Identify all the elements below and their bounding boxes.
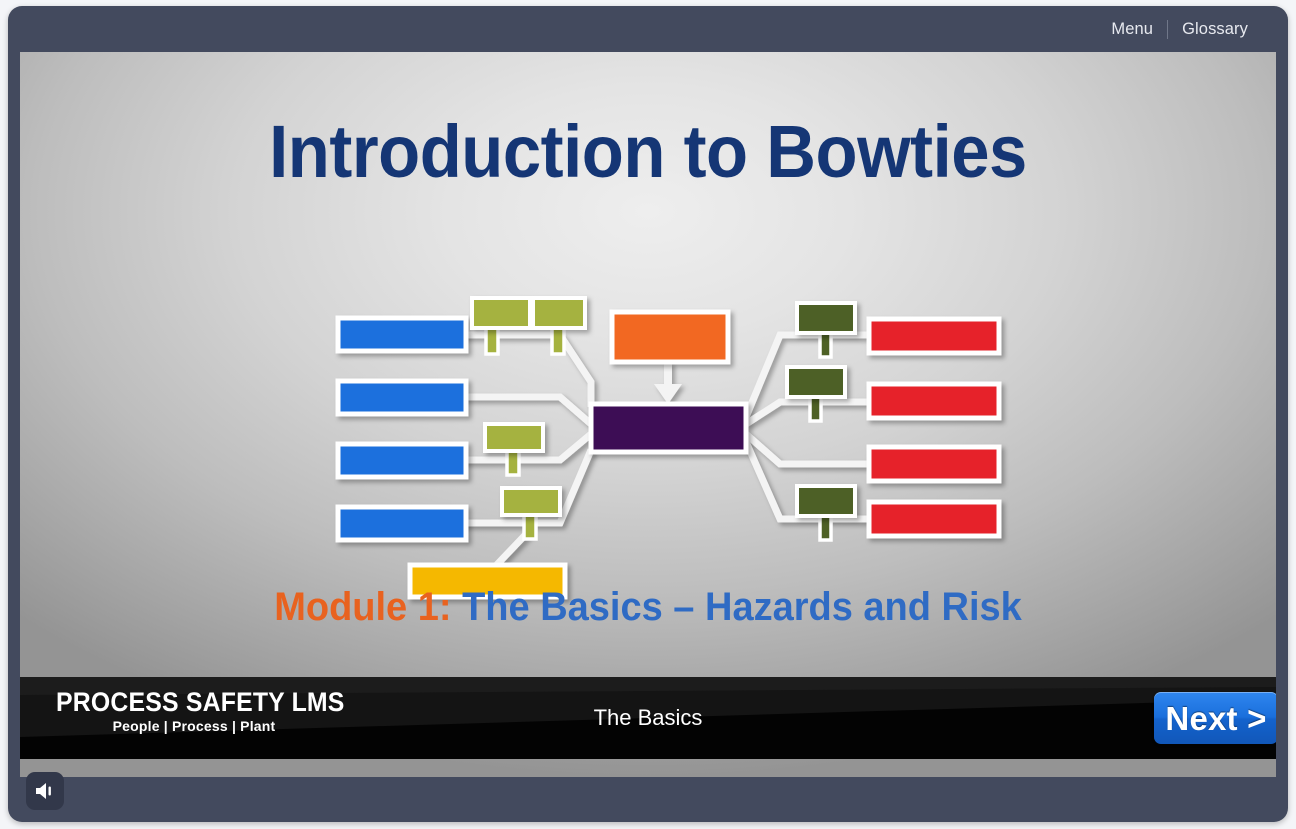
threat-box-2	[338, 381, 466, 414]
recovery-barrier-boxes	[787, 303, 855, 516]
player-frame: Menu Glossary Introduction to Bowties	[8, 6, 1288, 822]
slide-subtitle-topic: The Basics – Hazards and Risk	[462, 585, 1022, 629]
slide-subtitle-module: Module 1:	[274, 585, 462, 629]
next-button[interactable]: Next >	[1154, 692, 1276, 744]
consequence-box-1	[869, 319, 999, 353]
consequence-box-2	[869, 384, 999, 418]
glossary-button[interactable]: Glossary	[1168, 6, 1262, 52]
hazard-to-top-event-arrow	[654, 362, 682, 404]
preventive-barrier-2	[533, 298, 585, 328]
volume-button[interactable]	[26, 772, 64, 810]
next-button-label: Next >	[1165, 702, 1266, 735]
consequence-box-3	[869, 447, 999, 481]
slide-subtitle: Module 1: The Basics – Hazards and Risk	[51, 582, 1244, 632]
preventive-barrier-4	[502, 488, 560, 515]
threat-box-3	[338, 444, 466, 477]
preventive-barrier-1	[472, 298, 530, 328]
menu-button[interactable]: Menu	[1097, 6, 1167, 52]
preventive-barrier-boxes	[472, 298, 585, 515]
recovery-barrier-2	[787, 367, 845, 397]
slide-stage: Introduction to Bowties	[20, 52, 1276, 777]
course-player-page: Menu Glossary Introduction to Bowties	[0, 0, 1296, 829]
player-topbar: Menu Glossary	[8, 6, 1288, 52]
threat-boxes	[338, 318, 466, 540]
top-event-box	[591, 404, 746, 452]
slide-title: Introduction to Bowties	[64, 110, 1232, 194]
preventive-barrier-3	[485, 424, 543, 451]
barrier-stems	[486, 324, 831, 540]
topbar-links: Menu Glossary	[1097, 6, 1262, 52]
slide-footer: PROCESS SAFETY LMS People | Process | Pl…	[20, 677, 1276, 759]
recovery-barrier-3	[797, 486, 855, 516]
connector-lines	[460, 335, 875, 574]
hazard-box	[612, 312, 728, 362]
speaker-volume-icon	[34, 781, 56, 801]
consequence-boxes	[869, 319, 999, 536]
threat-box-4	[338, 507, 466, 540]
consequence-box-4	[869, 502, 999, 536]
recovery-barrier-1	[797, 303, 855, 333]
slide-caption: The Basics	[20, 703, 1276, 733]
threat-box-1	[338, 318, 466, 351]
